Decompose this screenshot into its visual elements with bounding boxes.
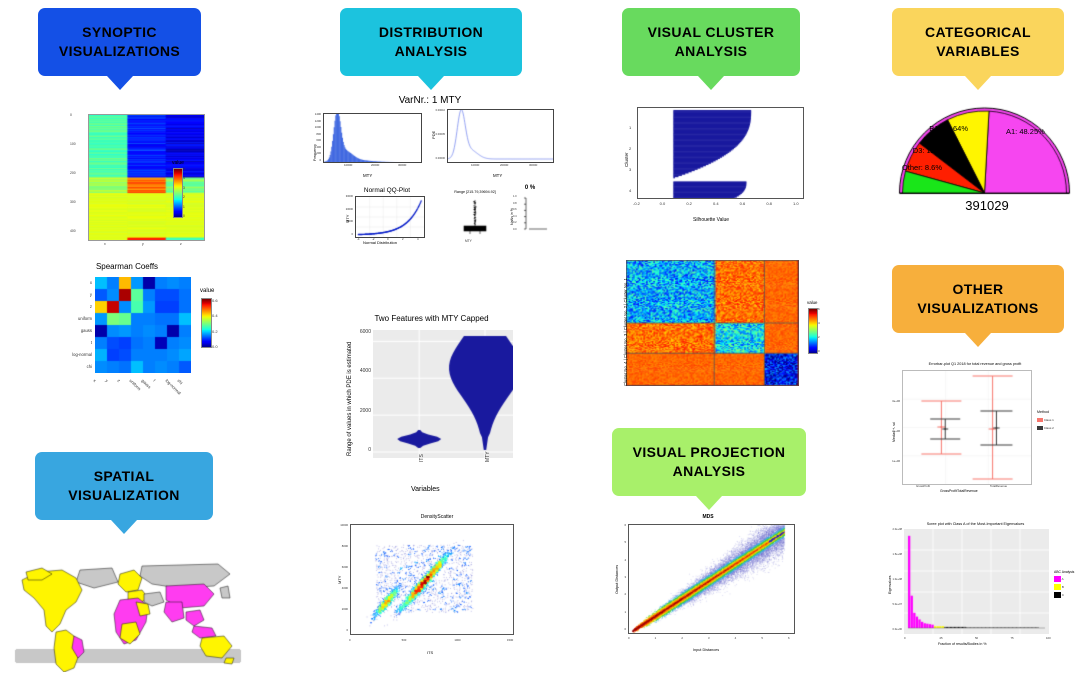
varnr-header: VarNr.: 1 MTY (350, 95, 510, 106)
legend-swatch (1054, 576, 1061, 582)
varnr-histogram-canvas (323, 113, 422, 163)
varnr-histogram-xlabel: MTY (363, 173, 372, 178)
axis-tick: 6000 (351, 329, 371, 335)
violin-xlabel: Variables (411, 486, 440, 493)
axis-tick: 20000 (333, 208, 353, 211)
varnr-box-title: Range [215.79,39694.92] (438, 190, 512, 194)
varnr-pde-ylabel: PDE (431, 131, 436, 139)
axis-tick: 0.8 (513, 202, 517, 205)
axis-tick: 0.0e+00 (880, 628, 902, 631)
axis-tick: 5 (612, 540, 626, 544)
axis-tick: 0 (183, 214, 185, 218)
axis-tick: 4 (735, 636, 737, 640)
axis-tick: x (40, 280, 92, 285)
axis-tick: 0.4 (713, 201, 719, 206)
axis-tick: 0.6 (740, 201, 746, 206)
banner-tail-icon (107, 76, 133, 90)
chart-cluster-heatmap: Cluster No. 4 | Cluster No. 3 | Cluster … (612, 258, 827, 413)
pie-slice-label: A1: 48.25% (1006, 127, 1045, 136)
axis-tick: 0 (333, 233, 353, 236)
errorbar-canvas (902, 370, 1032, 485)
axis-tick: 3 (629, 167, 631, 172)
poster-root: SYNOPTICVISUALIZATIONS DISTRIBUTIONANALY… (0, 0, 1089, 679)
legend-label: C (1061, 593, 1064, 597)
axis-tick: -4 (357, 237, 360, 241)
mds-canvas (628, 524, 795, 634)
axis-tick: log-normal (40, 352, 92, 357)
axis-tick: 0.4 (513, 215, 517, 218)
axis-tick: z (40, 304, 92, 309)
axis-tick: 10000 (332, 523, 348, 527)
chart-scree: Scree plot with Class A of the Most-Impo… (880, 518, 1089, 668)
axis-tick: 1500 (507, 638, 513, 642)
banner-label: OTHERVISUALIZATIONS (911, 280, 1044, 318)
chart-world-map (8, 540, 248, 672)
banner-label: SYNOPTICVISUALIZATIONS (53, 23, 186, 61)
axis-tick: y (40, 292, 92, 297)
chart-varnr-panel: VarNr.: 1 MTY 1400120010008006004002000 … (305, 95, 555, 245)
errorbar-xlabel: GrossProfitTotalRevenue (940, 489, 978, 493)
axis-tick: TotalRevenue (990, 484, 1007, 488)
axis-tick: 0 (70, 113, 72, 117)
axis-tick: 2000 (351, 408, 371, 414)
axis-tick: 25 (940, 636, 943, 640)
chart-pie: A1: 48.25%B1: 16.64%C2: 14.3%D3: 12.21%O… (880, 105, 1089, 220)
axis-tick: 1 (183, 205, 185, 209)
scree-xlabel: Fraction of results/Bodies in % (938, 642, 987, 646)
axis-tick: 4 (612, 558, 626, 562)
axis-tick: 4 (629, 188, 631, 193)
axis-tick: MTY (485, 451, 491, 462)
axis-tick: 2 (681, 636, 683, 640)
legend-swatch (1054, 584, 1061, 590)
axis-tick: z (180, 242, 182, 246)
banner-tail-icon (965, 333, 991, 347)
densityscatter-title: DensityScatter (382, 514, 492, 520)
banner-synoptic-visualizations[interactable]: SYNOPTICVISUALIZATIONS (38, 8, 201, 76)
chart-errorbar: Errorbar-plot Q1 2018 for total revenue … (882, 362, 1089, 497)
axis-tick: 0 (904, 636, 906, 640)
pie-slice-label: Other: 8.6% (880, 163, 942, 172)
banner-visual-cluster-analysis[interactable]: VISUAL CLUSTERANALYSIS (622, 8, 800, 76)
scree-legend-title: ABC Analysis (1054, 570, 1074, 574)
axis-tick: 0.8 (766, 201, 772, 206)
pie-slice-label: C2: 14.3% (880, 135, 958, 144)
axis-tick: 30000 (333, 195, 353, 198)
banner-tail-icon (698, 76, 724, 90)
mds-ylabel: Output Distances (615, 565, 619, 594)
axis-tick: 2000 (332, 607, 348, 611)
banner-label: SPATIALVISUALIZATION (62, 467, 186, 505)
pie-slice-label: B1: 16.64% (884, 124, 968, 133)
axis-tick: 4 (818, 321, 820, 325)
legend-item[interactable]: C (1054, 592, 1064, 598)
chart-violin: Two Features with MTY Capped 60004000200… (335, 310, 520, 500)
banner-tail-icon (111, 520, 137, 534)
banner-distribution-analysis[interactable]: DISTRIBUTIONANALYSIS (340, 8, 522, 76)
pie-total-label: 391029 (932, 198, 1042, 213)
axis-tick: ITS (419, 454, 425, 462)
varnr-qq-xlabel: Normal Distribution (363, 240, 397, 245)
varnr-pde-canvas (447, 109, 554, 163)
axis-tick: 1200 (307, 119, 321, 123)
banner-label: CATEGORICALVARIABLES (919, 23, 1037, 61)
axis-tick: 0.0 (513, 228, 517, 231)
axis-tick: gauss (140, 378, 151, 389)
banner-other-visualizations[interactable]: OTHERVISUALIZATIONS (892, 265, 1064, 333)
axis-tick: 1 (629, 125, 631, 130)
chart-silhouette: 1234 -0.20.00.20.40.60.81.0 Cluster Silh… (615, 105, 820, 240)
cluster-heatmap-ylabel: Cluster No. 4 | Cluster No. 3 | Cluster … (623, 278, 628, 386)
axis-tick: 400 (70, 229, 76, 233)
axis-tick: x (104, 242, 106, 246)
cluster-heatmap-legend-title: value (807, 300, 818, 305)
axis-tick: 0.0 (660, 201, 666, 206)
violin-ylabel: Range of values in which PDE is estimate… (347, 342, 353, 456)
scree-title: Scree plot with Class A of the Most-Impo… (888, 522, 1063, 526)
legend-label: A (1061, 577, 1064, 581)
banner-tail-icon (696, 496, 722, 510)
mds-xlabel: Input Distances (693, 648, 719, 652)
legend-label: B (1061, 585, 1064, 589)
axis-tick: 0.2 (513, 221, 517, 224)
axis-tick: 1000 (307, 125, 321, 129)
axis-tick: 0.4 (212, 313, 218, 318)
axis-tick: 4000 (351, 368, 371, 374)
pie-slice-label: D3: 12.21% (880, 146, 952, 155)
axis-tick: 5 (183, 167, 185, 171)
scree-ylabel: Eigenvalues (888, 576, 892, 594)
axis-tick: 10000 (344, 163, 352, 167)
banner-tail-icon (965, 76, 991, 90)
banner-label: VISUAL CLUSTERANALYSIS (642, 23, 781, 61)
axis-tick: 20000 (500, 163, 508, 167)
errorbar-ylabel: Median +- sd (892, 422, 896, 442)
varnr-qq-canvas (355, 196, 425, 238)
silhouette-xlabel: Silhouette Value (693, 217, 729, 223)
axis-tick: t (40, 340, 92, 345)
banner-visual-projection-analysis[interactable]: VISUAL PROJECTIONANALYSIS (612, 428, 806, 496)
legend-item[interactable]: A (1054, 576, 1064, 582)
axis-tick: 600 (307, 138, 321, 142)
cluster-heatmap-legend-bar (808, 308, 818, 354)
axis-tick: 6 (788, 636, 790, 640)
axis-tick: 75 (1011, 636, 1014, 640)
axis-tick: 0.6 (513, 208, 517, 211)
errorbar-legend-title: Method (1037, 410, 1049, 414)
axis-tick: 0.00000 (423, 157, 445, 160)
chart-density-scatter: DensityScatter 1000080006000400020000 05… (332, 512, 532, 672)
axis-tick: 4 (417, 237, 419, 241)
axis-tick: 3e+06 (884, 399, 900, 403)
legend-label: Class 2 (1043, 426, 1054, 430)
axis-tick: 20000 (371, 163, 379, 167)
axis-tick: 1.0 (513, 195, 517, 198)
axis-tick: 5.0e+07 (880, 603, 902, 606)
axis-tick: 1 (655, 636, 657, 640)
axis-tick: 100 (1046, 636, 1051, 640)
mds-title: MDS (668, 514, 748, 520)
axis-tick: 6 (818, 307, 820, 311)
chart-pixelmatrix: 0100200300400 xyz value 543210 (40, 110, 220, 250)
axis-tick: 2 (183, 195, 185, 199)
varnr-qq-ylabel: MTY (345, 215, 350, 223)
axis-tick: gauss (40, 328, 92, 333)
chart-spearman-coeffs: Spearman Coeffs xyzuniformgausstlog-norm… (40, 262, 230, 427)
pixelmatrix-legend-title: value (172, 160, 184, 166)
axis-tick: 0 (349, 638, 351, 642)
varnr-pde-xlabel: MTY (493, 173, 502, 178)
axis-tick: 10000 (333, 220, 353, 223)
axis-tick: 0.00010 (423, 109, 445, 112)
violin-title: Two Features with MTY Capped (349, 314, 514, 323)
violin-canvas (373, 330, 513, 458)
axis-tick: x (92, 378, 97, 383)
axis-tick: 500 (402, 638, 407, 642)
legend-swatch (1054, 592, 1061, 598)
axis-tick: 1000 (454, 638, 460, 642)
axis-tick: 2 (818, 335, 820, 339)
axis-tick: 0.6 (212, 298, 218, 303)
axis-tick: chi (40, 364, 92, 369)
axis-tick: 1400 (307, 112, 321, 116)
axis-tick: uniform (40, 316, 92, 321)
axis-tick: 0 (351, 447, 371, 453)
axis-tick: -0.2 (633, 201, 640, 206)
axis-tick: 50 (975, 636, 978, 640)
axis-tick: 8000 (332, 544, 348, 548)
axis-tick: 1 (612, 610, 626, 614)
axis-tick: 30000 (398, 163, 406, 167)
varnr-box-xtick: MTY (465, 239, 472, 243)
spearman-legend-bar (201, 298, 212, 348)
spearman-canvas (95, 277, 191, 373)
axis-tick: 0.2 (212, 329, 218, 334)
axis-tick: 10000 (471, 163, 479, 167)
axis-tick: 6000 (332, 565, 348, 569)
axis-tick: 4000 (332, 586, 348, 590)
axis-tick: 0 (818, 349, 820, 353)
axis-tick: 2 (629, 146, 631, 151)
legend-item[interactable]: Class 1 (1037, 418, 1054, 422)
spearman-title: Spearman Coeffs (52, 262, 202, 271)
banner-label: VISUAL PROJECTIONANALYSIS (627, 443, 792, 481)
chart-mds: MDS 6543210 0123456 Output Distances Inp… (608, 512, 813, 672)
densityscatter-ylabel: MTY (337, 576, 342, 584)
axis-tick: 0 (612, 627, 626, 631)
densityscatter-xlabel: ITS (427, 650, 433, 655)
axis-tick: 0 (628, 636, 630, 640)
axis-tick: 1.5e+08 (880, 553, 902, 556)
axis-tick: uniform (128, 378, 141, 391)
varnr-pct-canvas (517, 196, 551, 236)
axis-tick: 3 (708, 636, 710, 640)
silhouette-ylabel: Cluster (624, 152, 629, 167)
axis-tick: z (116, 378, 121, 383)
densityscatter-canvas (350, 524, 514, 635)
varnr-histogram-ylabel: Frequency (313, 144, 317, 161)
axis-tick: chi (176, 378, 183, 385)
axis-tick: y (104, 378, 109, 383)
pixelmatrix-legend-bar (173, 168, 183, 218)
errorbar-title: Errorbar-plot Q1 2018 for total revenue … (890, 362, 1060, 366)
axis-tick: y (142, 242, 144, 246)
axis-tick: 0 (332, 628, 348, 632)
axis-tick: 2 (402, 237, 404, 241)
world-map-canvas[interactable] (8, 540, 248, 672)
axis-tick: 2.0e+08 (880, 528, 902, 531)
spearman-legend-title: value (200, 288, 214, 294)
axis-tick: 1e+06 (884, 459, 900, 463)
axis-tick: GrossProfit (916, 484, 930, 488)
axis-tick: 30000 (529, 163, 537, 167)
cluster-heatmap-canvas (626, 260, 799, 386)
axis-tick: 0.0 (212, 344, 218, 349)
axis-tick: 3 (183, 186, 185, 190)
axis-tick: 5 (761, 636, 763, 640)
legend-label: Class 1 (1043, 418, 1054, 422)
banner-label: DISTRIBUTIONANALYSIS (373, 23, 489, 61)
axis-tick: t (152, 378, 156, 382)
axis-tick: 1.0 (793, 201, 799, 206)
varnr-pct-title: 0 % (510, 185, 550, 191)
varnr-qq-title: Normal QQ-Plot (347, 187, 427, 194)
scree-canvas (904, 529, 1049, 634)
varnr-box-canvas (455, 196, 495, 238)
banner-spatial-visualization[interactable]: SPATIALVISUALIZATION (35, 452, 213, 520)
pixelmatrix-canvas (88, 114, 205, 241)
axis-tick: 0.2 (686, 201, 692, 206)
axis-tick: 100 (70, 142, 76, 146)
axis-tick: 4 (183, 176, 185, 180)
silhouette-canvas (637, 107, 804, 199)
axis-tick: 300 (70, 200, 76, 204)
banner-categorical-variables[interactable]: CATEGORICALVARIABLES (892, 8, 1064, 76)
legend-item[interactable]: B (1054, 584, 1064, 590)
banner-tail-icon (418, 76, 444, 90)
axis-tick: 800 (307, 132, 321, 136)
axis-tick: 200 (70, 171, 76, 175)
axis-tick: 6 (612, 523, 626, 527)
legend-item[interactable]: Class 2 (1037, 426, 1054, 430)
